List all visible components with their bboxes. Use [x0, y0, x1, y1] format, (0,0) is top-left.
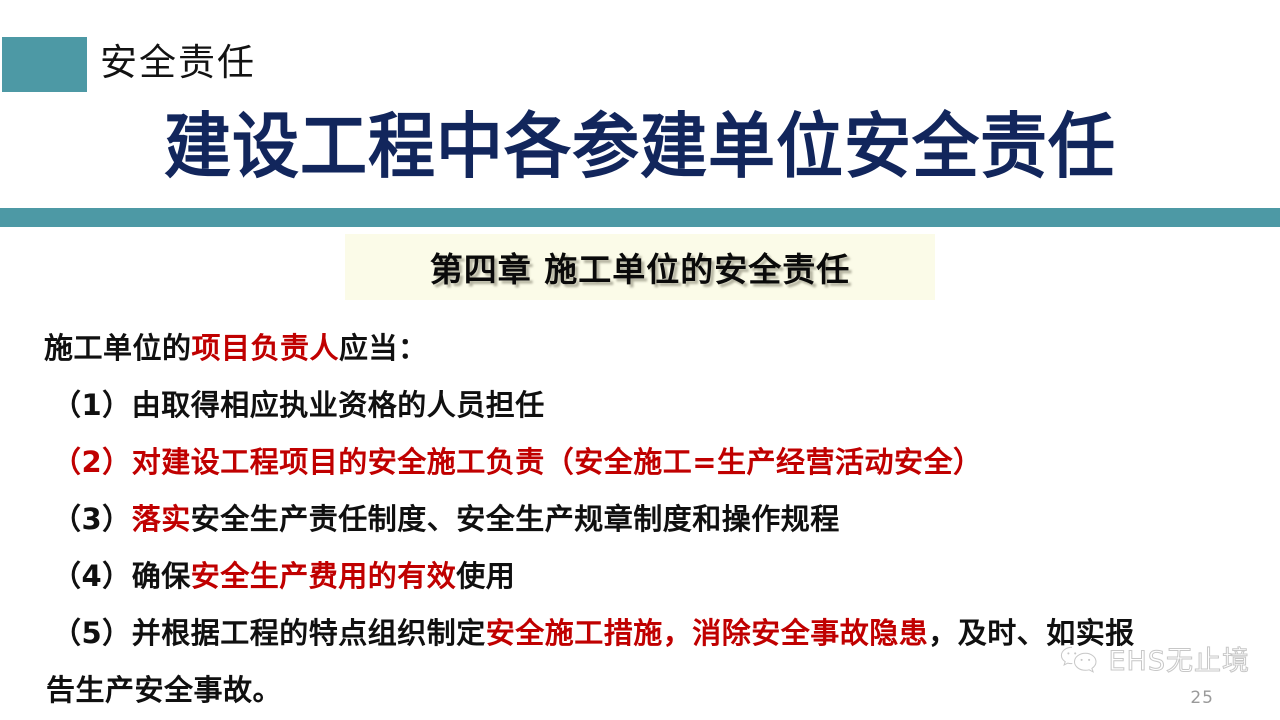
list-item-text-highlight: 安全施工措施，消除安全事故隐患 [486, 616, 929, 650]
list-item-text: 由取得相应执业资格的人员担任 [132, 388, 545, 422]
lead-line: 施工单位的项目负责人应当： [44, 320, 1259, 377]
teal-divider-bar [0, 208, 1280, 227]
list-item-number: （5） [52, 616, 132, 650]
wechat-icon [1058, 644, 1100, 674]
lead-seg-2-highlight: 项目负责人 [192, 331, 340, 365]
list-item-number: （1） [52, 388, 132, 422]
list-item-text: 安全生产责任制度、安全生产规章制度和操作规程 [191, 502, 840, 536]
list-item-number: （4） [52, 559, 132, 593]
lead-seg-3: 应当： [339, 331, 428, 365]
list-item-number: （2） [52, 445, 132, 479]
list-item: （1）由取得相应执业资格的人员担任 [44, 377, 1259, 434]
list-item: （4）确保安全生产费用的有效使用 [44, 548, 1259, 605]
slide-canvas: 安全责任 建设工程中各参建单位安全责任 第四章 施工单位的安全责任 施工单位的项… [0, 0, 1280, 720]
list-item-text-highlight: 落实 [132, 502, 191, 536]
slide-kicker: 安全责任 [100, 38, 256, 88]
chapter-banner: 第四章 施工单位的安全责任 [345, 234, 935, 300]
list-item: （3）落实安全生产责任制度、安全生产规章制度和操作规程 [44, 491, 1259, 548]
teal-accent-block [2, 37, 87, 92]
list-item-number: （3） [52, 502, 132, 536]
list-item-text: 并根据工程的特点组织制定 [132, 616, 486, 650]
watermark-text: EHS无止境 [1108, 639, 1250, 678]
watermark: EHS无止境 [1058, 639, 1250, 678]
chapter-title: 第四章 施工单位的安全责任 [430, 243, 851, 291]
list-item-text: 确保 [132, 559, 191, 593]
page-number: 25 [1190, 688, 1214, 708]
list-item: （2）对建设工程项目的安全施工负责（安全施工=生产经营活动安全） [44, 434, 1259, 491]
list-item-text-end: 使用 [456, 559, 515, 593]
list-item-text-highlight: 安全生产费用的有效 [191, 559, 457, 593]
lead-seg-1: 施工单位的 [44, 331, 192, 365]
list-item-text: 对建设工程项目的安全施工负责（安全施工=生产经营活动安全） [132, 445, 983, 479]
page-title: 建设工程中各参建单位安全责任 [0, 103, 1280, 192]
